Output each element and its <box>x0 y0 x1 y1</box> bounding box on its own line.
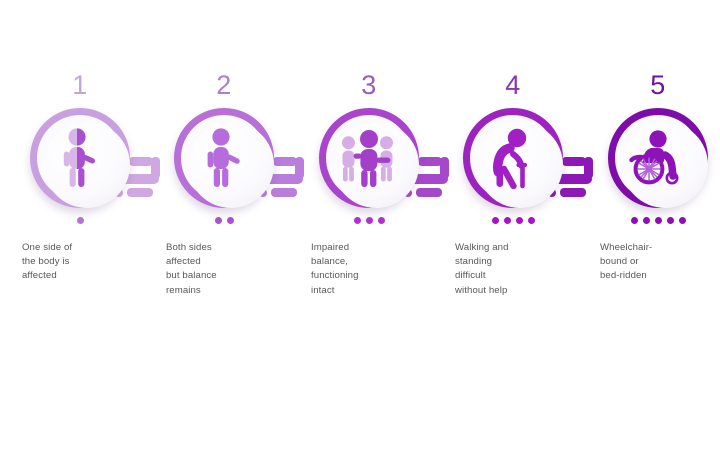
stage-dot-indicator <box>8 217 152 227</box>
stage-dot-indicator <box>441 217 585 227</box>
person-walking-one-side-icon <box>52 127 108 189</box>
infographic-canvas: 1 One side ofthe body isaffected2 Both s… <box>0 0 720 453</box>
elderly-person-with-cane-icon <box>484 127 542 189</box>
person-standing-both-sides-icon <box>174 108 274 208</box>
caption-line: affected <box>166 255 296 269</box>
stage-number: 1 <box>8 70 152 102</box>
caption-line: remains <box>166 284 296 298</box>
caption-line: the body is <box>22 255 152 269</box>
stage-circle[interactable] <box>608 108 708 208</box>
stage-caption: Wheelchair-bound orbed-ridden <box>586 241 720 284</box>
caption-line: bound or <box>600 255 720 269</box>
three-people-support-icon <box>337 127 401 189</box>
caption-line: Impaired <box>311 241 441 255</box>
caption-line: but balance <box>166 269 296 283</box>
caption-line: Both sides <box>166 241 296 255</box>
caption-line: affected <box>22 269 152 283</box>
stage-dot <box>77 217 84 224</box>
caption-line: without help <box>455 284 585 298</box>
stage-dot <box>215 217 222 224</box>
caption-line: functioning <box>311 269 441 283</box>
person-in-wheelchair-icon <box>608 108 708 208</box>
caption-line: bed-ridden <box>600 269 720 283</box>
caption-line: Wheelchair- <box>600 241 720 255</box>
stage-2[interactable]: 2 Both sidesaffectedbut balanceremains <box>152 70 296 298</box>
caption-line: One side of <box>22 241 152 255</box>
stage-dot <box>366 217 373 224</box>
stage-number: 3 <box>297 70 441 102</box>
elderly-person-with-cane-icon <box>463 108 563 208</box>
caption-line: balance, <box>311 255 441 269</box>
stage-dot-indicator <box>297 217 441 227</box>
stage-circle[interactable] <box>319 108 419 208</box>
caption-line: intact <box>311 284 441 298</box>
stage-3[interactable]: 3 Impairedbalance,functioningintact <box>297 70 441 298</box>
stage-caption: Both sidesaffectedbut balanceremains <box>152 241 296 298</box>
stage-number: 2 <box>152 70 296 102</box>
stage-track: 1 One side ofthe body isaffected2 Both s… <box>0 0 720 453</box>
stage-caption: One side ofthe body isaffected <box>8 241 152 284</box>
stage-number: 5 <box>586 70 720 102</box>
stage-dot-indicator <box>152 217 296 227</box>
stage-dot <box>643 217 650 224</box>
stage-dot <box>504 217 511 224</box>
stage-dot <box>667 217 674 224</box>
stage-dot <box>378 217 385 224</box>
stage-circle[interactable] <box>30 108 130 208</box>
caption-line: Walking and <box>455 241 585 255</box>
person-in-wheelchair-icon <box>627 129 689 187</box>
stage-dot-indicator <box>586 217 720 227</box>
stage-caption: Walking andstandingdifficultwithout help <box>441 241 585 298</box>
stage-5[interactable]: 5 Wheelchair-bound orbed-ridden <box>586 70 720 284</box>
stage-dot <box>655 217 662 224</box>
stage-number: 4 <box>441 70 585 102</box>
stage-4[interactable]: 4 Walking andstandingdifficultwithout he… <box>441 70 585 298</box>
stage-dot <box>227 217 234 224</box>
stage-dot <box>492 217 499 224</box>
stage-1[interactable]: 1 One side ofthe body isaffected <box>8 70 152 284</box>
stage-dot <box>354 217 361 224</box>
stage-dot <box>528 217 535 224</box>
caption-line: difficult <box>455 269 585 283</box>
stage-dot <box>679 217 686 224</box>
stage-circle[interactable] <box>174 108 274 208</box>
caption-line: standing <box>455 255 585 269</box>
three-people-support-icon <box>319 108 419 208</box>
person-walking-one-side-icon <box>30 108 130 208</box>
person-standing-both-sides-icon <box>196 127 252 189</box>
stage-dot <box>631 217 638 224</box>
stage-circle[interactable] <box>463 108 563 208</box>
stage-caption: Impairedbalance,functioningintact <box>297 241 441 298</box>
stage-dot <box>516 217 523 224</box>
